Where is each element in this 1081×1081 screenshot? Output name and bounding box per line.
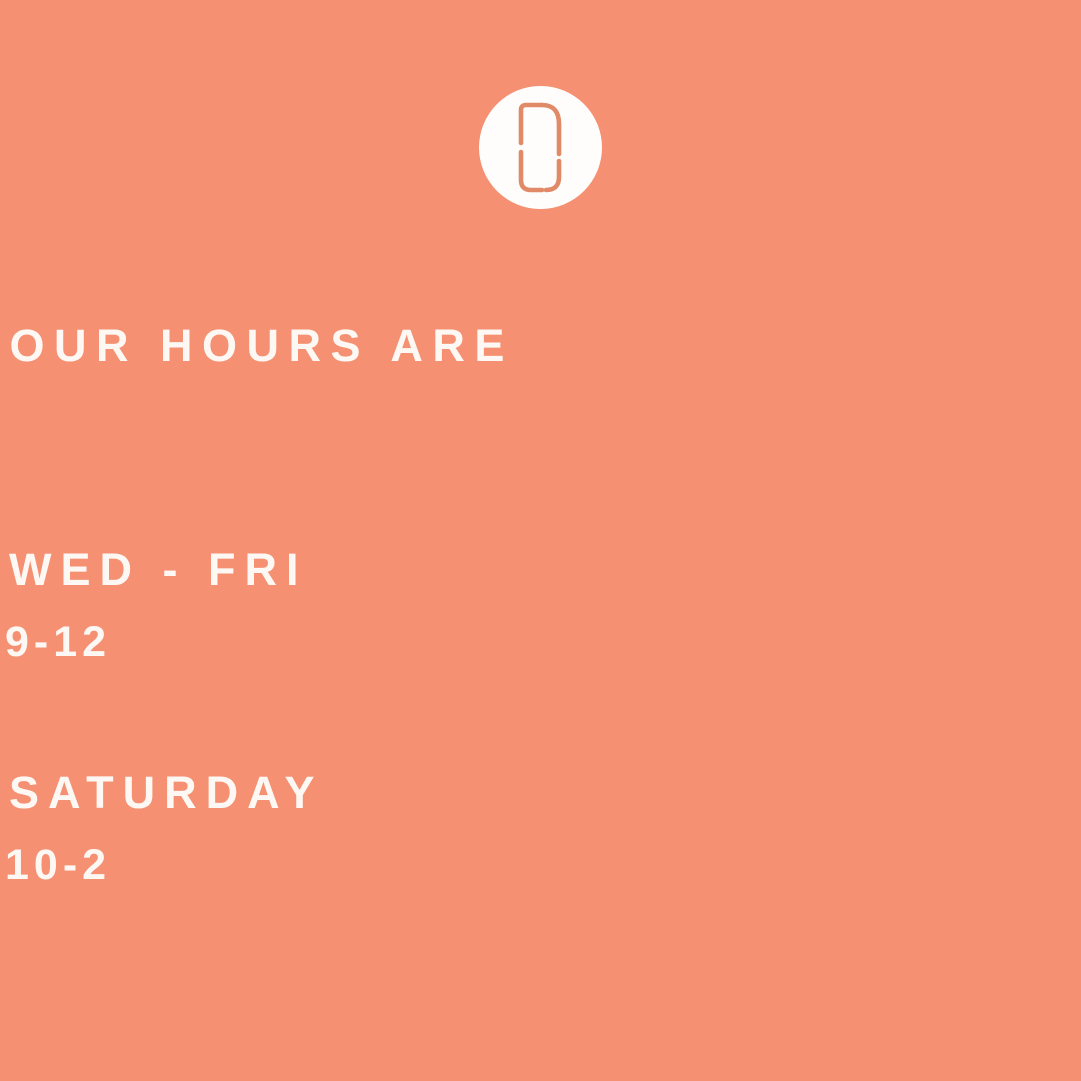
page-title: OUR HOURS ARE — [0, 323, 1081, 368]
schedule-hours-value: 9-12 — [0, 621, 1081, 664]
schedule-hours-value: 10-2 — [0, 844, 1081, 887]
logo-circle — [479, 86, 602, 209]
monogram-d-logo-icon — [512, 99, 570, 197]
logo-container — [0, 86, 1081, 209]
schedule-days-label: SATURDAY — [0, 770, 1081, 815]
hours-poster: OUR HOURS ARE WED - FRI 9-12 SATURDAY 10… — [0, 0, 1081, 1081]
schedule-entry-1: SATURDAY 10-2 — [0, 770, 1081, 887]
schedule-days-label: WED - FRI — [0, 547, 1081, 592]
schedule-entry-0: WED - FRI 9-12 — [0, 547, 1081, 664]
